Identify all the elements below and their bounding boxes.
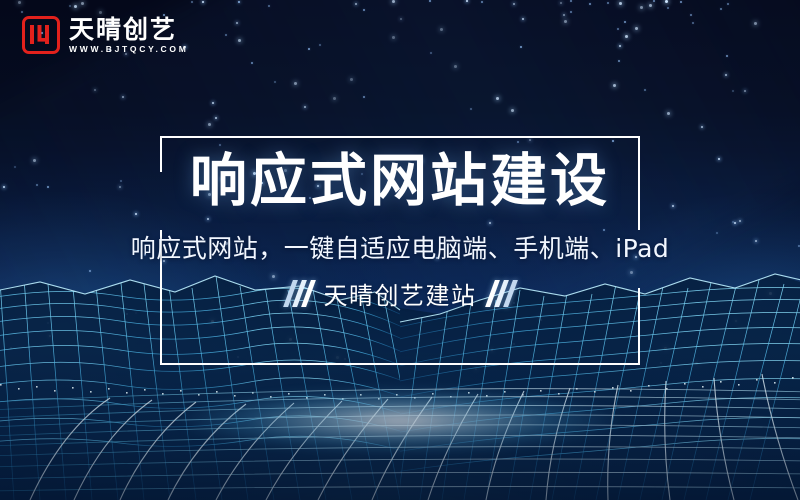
brand-logo-text: 天晴创艺 WWW.BJTQCY.COM bbox=[69, 17, 189, 54]
brand-name: 天晴创艺 bbox=[69, 17, 189, 42]
slash-decoration-left-icon bbox=[288, 280, 311, 307]
hero-content: 响应式网站建设 响应式网站，一键自适应电脑端、手机端、iPad 天晴创艺建站 bbox=[0, 150, 800, 312]
hero-badge-label: 天晴创艺建站 bbox=[324, 276, 477, 311]
brand-website: WWW.BJTQCY.COM bbox=[69, 45, 189, 54]
hero-subline: 响应式网站，一键自适应电脑端、手机端、iPad bbox=[0, 234, 800, 264]
hero-banner: 天晴创艺 WWW.BJTQCY.COM 响应式网站建设 响应式网站，一键自适应电… bbox=[0, 0, 800, 500]
brand-logo[interactable]: 天晴创艺 WWW.BJTQCY.COM bbox=[22, 16, 189, 54]
tqcy-monogram-icon bbox=[22, 16, 60, 54]
hero-headline: 响应式网站建设 bbox=[0, 150, 800, 214]
slash-decoration-right-icon bbox=[490, 280, 513, 307]
hero-badge: 天晴创艺建站 bbox=[288, 276, 513, 311]
